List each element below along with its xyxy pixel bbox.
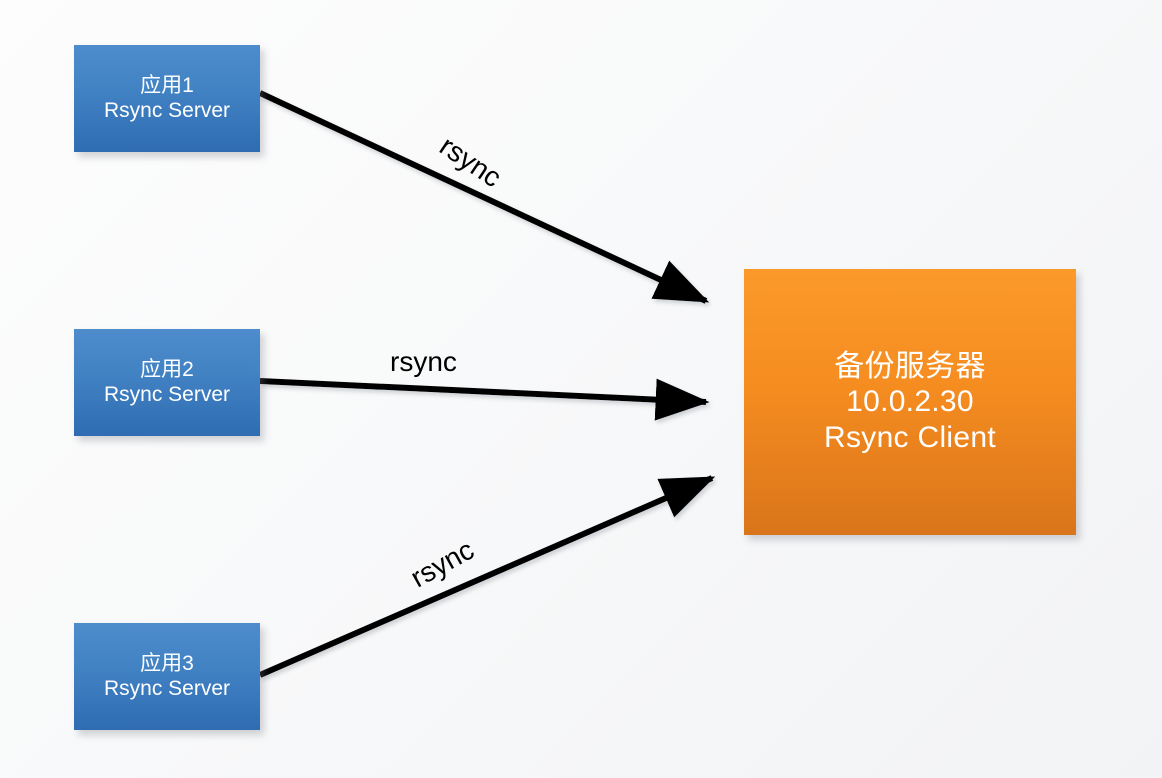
node-backup-line2: 10.0.2.30 [846,384,974,419]
node-app2-line2: Rsync Server [104,383,230,408]
node-app1[interactable]: 应用1 Rsync Server [74,45,260,152]
edge-app2-to-backup [260,381,706,402]
edge-label-rsync-2: rsync [390,346,457,378]
edge-app3-to-backup [260,478,712,675]
node-backup-line1: 备份服务器 [834,349,986,384]
node-backup-server[interactable]: 备份服务器 10.0.2.30 Rsync Client [744,269,1076,535]
node-app1-line1: 应用1 [140,74,194,99]
node-app3-line1: 应用3 [140,652,194,677]
node-app1-line2: Rsync Server [104,99,230,124]
node-app2-line1: 应用2 [140,358,194,383]
edge-app1-to-backup [260,93,706,301]
diagram-canvas: 应用1 Rsync Server 应用2 Rsync Server 应用3 Rs… [0,0,1162,778]
node-app3[interactable]: 应用3 Rsync Server [74,623,260,730]
node-app3-line2: Rsync Server [104,677,230,702]
node-app2[interactable]: 应用2 Rsync Server [74,329,260,436]
node-backup-line3: Rsync Client [824,420,996,455]
